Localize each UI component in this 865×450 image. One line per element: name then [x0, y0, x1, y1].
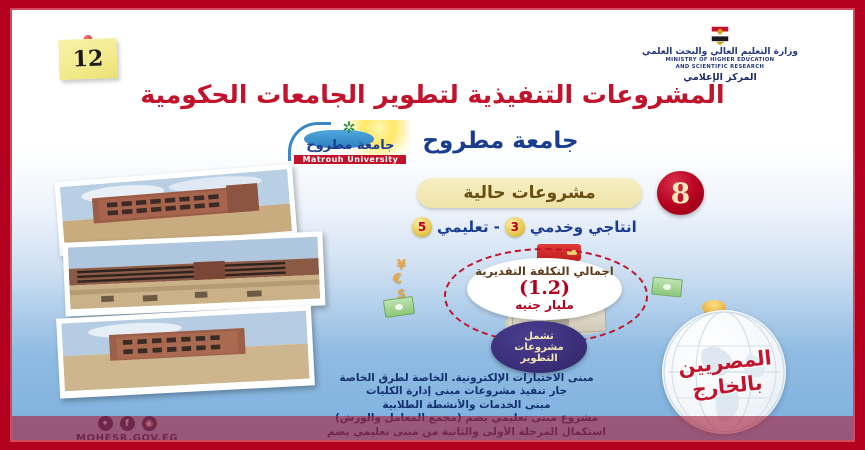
sticky-note-number: 12 — [72, 45, 104, 72]
total-cost-value: (1.2) — [519, 278, 570, 299]
total-cost-unit: مليار جنيه — [515, 299, 574, 312]
list-item — [63, 231, 326, 316]
currency-symbol-yen: ¥ — [397, 258, 406, 273]
projects-breakdown: انتاجي وخدمي 3 - تعليمي 5 — [412, 215, 702, 239]
educational-label: تعليمي — [437, 218, 489, 236]
productive-count: 3 — [505, 217, 525, 237]
university-logo-arabic: جامعة مطروح — [286, 138, 414, 153]
poster-frame: 12 وزارة التعليم العالي والبحث العلمي MI… — [0, 0, 865, 450]
university-logo: ✲ جامعة مطروح Matrouh University — [286, 118, 414, 164]
university-name: جامعة مطروح — [422, 128, 578, 154]
banknote-icon-left — [383, 296, 415, 318]
total-cost-card: اجمالي التكلفة التقديرية (1.2) مليار جني… — [467, 258, 622, 320]
scope-ellipse: تشمل مشروعات التطوير — [491, 321, 587, 373]
currency-symbol-euro: € — [393, 272, 402, 287]
current-projects-label: مشروعات حالية — [463, 183, 595, 203]
sticky-note: 12 — [58, 38, 117, 80]
detail-line: مبنى الاختبارات الإلكترونية. الخاصة لطرق… — [262, 372, 671, 385]
poster-canvas: 12 وزارة التعليم العالي والبحث العلمي MI… — [10, 8, 855, 442]
bottom-bar — [12, 416, 853, 440]
productive-label: انتاجي وخدمي — [530, 218, 637, 236]
palm-tree-icon: ✲ — [342, 120, 355, 136]
ministry-name-english-2: AND SCIENTIFIC RESEARCH — [615, 65, 825, 70]
scope-line-3: التطوير — [520, 353, 557, 364]
university-logo-english: Matrouh University — [294, 155, 406, 164]
ministry-name-arabic: وزارة التعليم العالي والبحث العلمي — [615, 48, 825, 57]
page-title: المشروعات التنفيذية لتطوير الجامعات الحك… — [12, 80, 853, 109]
ministry-logo: وزارة التعليم العالي والبحث العلمي MINIS… — [615, 24, 825, 83]
detail-line: جار تنفيذ مشروعات مبنى إدارة الكليات — [262, 385, 671, 398]
photo-campus-wide — [68, 237, 320, 310]
scope-line-2: مشروعات — [514, 342, 563, 353]
educational-count: 5 — [412, 217, 432, 237]
projects-count: 8 — [671, 177, 690, 210]
current-projects-pill: مشروعات حالية — [417, 178, 642, 208]
banknote-icon-right — [651, 276, 683, 297]
breakdown-separator: - — [494, 218, 500, 236]
status-badge: 8 — [657, 171, 704, 215]
university-header: جامعة مطروح ✲ جامعة مطروح Matrouh Univer… — [12, 118, 853, 164]
egypt-eagle-icon — [706, 24, 734, 46]
detail-line: مبنى الخدمات والأنشطة الطلابية — [262, 399, 671, 412]
scope-line-1: تشمل — [524, 331, 554, 342]
